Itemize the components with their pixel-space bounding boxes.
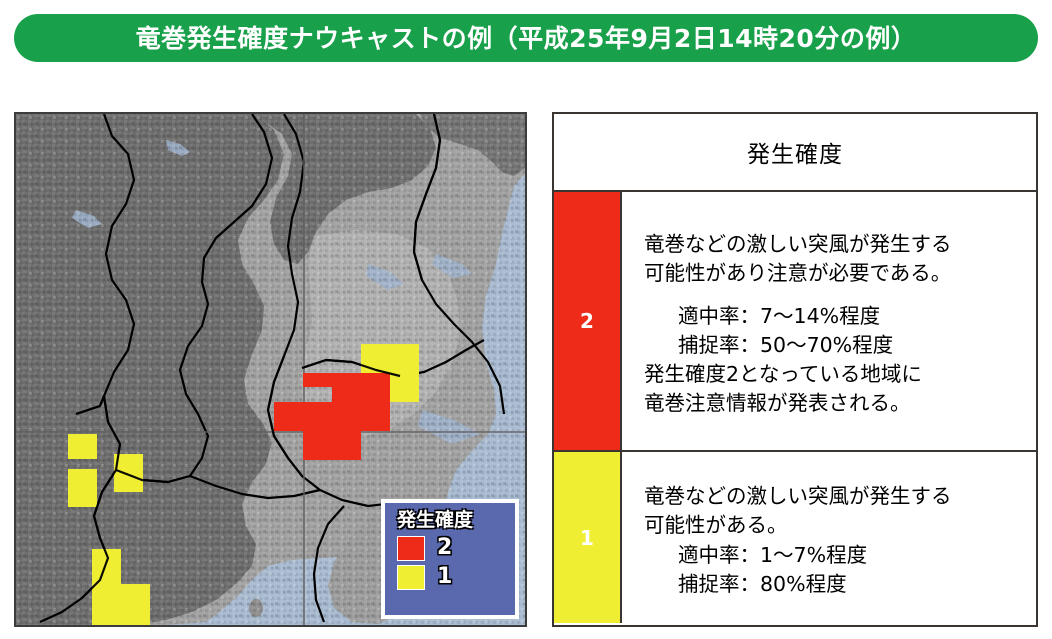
description-line: 可能性がある。: [644, 511, 1022, 540]
description-line: 竜巻などの激しい突風が発生する: [644, 482, 1022, 511]
description-line: 竜巻注意情報が発表される。: [644, 389, 1022, 418]
level-cell-1: 1: [554, 452, 622, 623]
table-row: 2 竜巻などの激しい突風が発生する 可能性があり注意が必要である。 適中率：7〜…: [554, 192, 1036, 452]
probability-cell-level-2[interactable]: [274, 402, 303, 431]
map-legend: 発生確度 2 1: [381, 499, 519, 619]
probability-cell-level-2[interactable]: [361, 402, 390, 431]
probability-cell-level-2[interactable]: [332, 373, 361, 402]
description-line-hit-rate: 適中率：1〜7%程度: [644, 541, 1022, 570]
description-line: 可能性があり注意が必要である。: [644, 259, 1022, 288]
probability-cell-level-1[interactable]: [68, 469, 97, 507]
table-header-row: 発生確度: [554, 114, 1036, 192]
probability-cell-level-1[interactable]: [361, 344, 390, 373]
probability-cell-level-1[interactable]: [121, 584, 150, 625]
probability-cell-level-1[interactable]: [68, 434, 97, 459]
probability-cell-level-1[interactable]: [390, 344, 419, 373]
probability-cell-level-1[interactable]: [390, 373, 419, 402]
description-line-capture-rate: 捕捉率：80%程度: [644, 570, 1022, 599]
probability-description-table: 発生確度 2 竜巻などの激しい突風が発生する 可能性があり注意が必要である。 適…: [552, 112, 1038, 627]
description-cell-1: 竜巻などの激しい突風が発生する 可能性がある。 適中率：1〜7%程度 捕捉率：8…: [622, 452, 1036, 623]
probability-cell-level-2[interactable]: [303, 402, 332, 431]
legend-row-level-2: 2: [397, 536, 515, 561]
legend-swatch-level-1: [397, 565, 425, 590]
page-title-bar: 竜巻発生確度ナウキャストの例（平成25年9月2日14時20分の例）: [14, 14, 1038, 62]
table-header-label: 発生確度: [747, 135, 843, 169]
level-number-1: 1: [580, 526, 594, 550]
level-cell-2: 2: [554, 192, 622, 450]
description-line: 竜巻などの激しい突風が発生する: [644, 230, 1022, 259]
probability-cell-level-2[interactable]: [332, 431, 361, 460]
probability-cell-level-2[interactable]: [303, 431, 332, 460]
description-line: 発生確度2となっている地域に: [644, 360, 1022, 389]
probability-cell-level-1[interactable]: [92, 589, 121, 625]
map-legend-title: 発生確度: [397, 511, 515, 531]
description-line-hit-rate: 適中率：7〜14%程度: [644, 302, 1022, 331]
description-line-capture-rate: 捕捉率：50〜70%程度: [644, 331, 1022, 360]
description-cell-2: 竜巻などの激しい突風が発生する 可能性があり注意が必要である。 適中率：7〜14…: [622, 192, 1036, 450]
probability-cell-level-2[interactable]: [303, 373, 332, 387]
nowcast-map-panel[interactable]: 発生確度 2 1: [14, 112, 527, 627]
level-number-2: 2: [580, 309, 594, 333]
legend-label-level-1: 1: [437, 566, 452, 588]
table-row: 1 竜巻などの激しい突風が発生する 可能性がある。 適中率：1〜7%程度 捕捉率…: [554, 452, 1036, 623]
legend-row-level-1: 1: [397, 565, 515, 590]
probability-cell-level-2[interactable]: [361, 373, 390, 402]
page-title: 竜巻発生確度ナウキャストの例（平成25年9月2日14時20分の例）: [136, 26, 917, 51]
legend-label-level-2: 2: [437, 537, 452, 559]
probability-cell-level-2[interactable]: [332, 402, 361, 431]
legend-swatch-level-2: [397, 536, 425, 561]
